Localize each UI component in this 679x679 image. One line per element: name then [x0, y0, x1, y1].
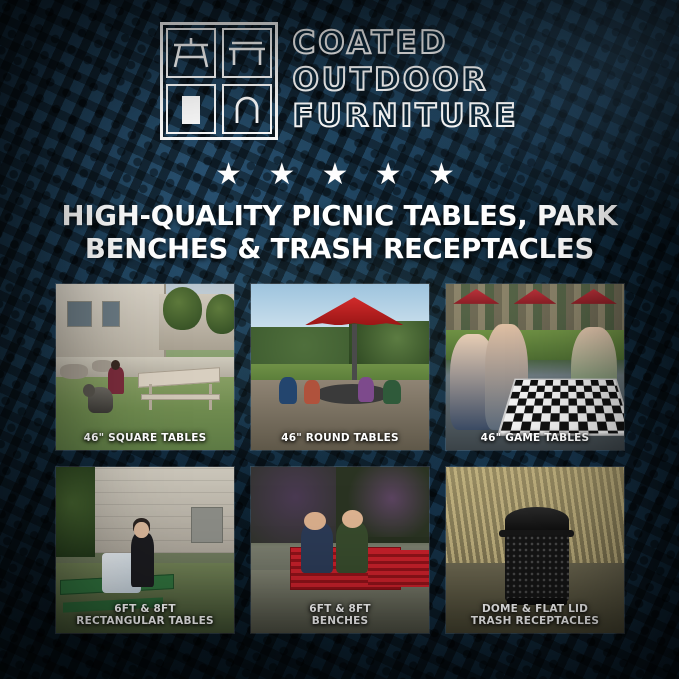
- picnic-table-icon: [166, 28, 216, 78]
- tile-caption: 6FT & 8FT RECTANGULAR TABLES: [56, 599, 234, 633]
- tile-caption-line-1: 46" ROUND TABLES: [281, 432, 399, 444]
- logo-icon-grid: [160, 22, 278, 140]
- brand-line-2: OUTDOOR: [292, 63, 518, 98]
- tile-caption: 46" GAME TABLES: [446, 428, 624, 450]
- star-rating: ★ ★ ★ ★ ★: [0, 160, 679, 190]
- tile-caption-line-1: 46" SQUARE TABLES: [84, 432, 207, 444]
- product-tile-square-tables[interactable]: 46" SQUARE TABLES: [55, 283, 235, 451]
- bench-icon: [222, 28, 272, 78]
- page-title: HIGH-QUALITY PICNIC TABLES, PARK BENCHES…: [0, 200, 679, 266]
- product-tile-grid: 46" SQUARE TABLES: [55, 283, 625, 634]
- tile-caption: 6FT & 8FT BENCHES: [251, 599, 429, 633]
- product-tile-rectangular-tables[interactable]: 6FT & 8FT RECTANGULAR TABLES: [55, 466, 235, 634]
- square-table-photo: [56, 284, 234, 450]
- tile-caption: 46" ROUND TABLES: [251, 428, 429, 450]
- tile-caption-line-1: DOME & FLAT LID: [482, 603, 588, 615]
- tile-caption: 46" SQUARE TABLES: [56, 428, 234, 450]
- banner-content: COATED OUTDOOR FURNITURE ★ ★ ★ ★ ★ HIGH-…: [0, 0, 679, 679]
- product-tile-benches[interactable]: 6FT & 8FT BENCHES: [250, 466, 430, 634]
- product-banner: COATED OUTDOOR FURNITURE ★ ★ ★ ★ ★ HIGH-…: [0, 0, 679, 679]
- tile-caption-line-1: 6FT & 8FT: [309, 603, 371, 615]
- trash-receptacle-icon: [166, 84, 216, 134]
- brand-line-3: FURNITURE: [292, 99, 518, 134]
- brand-line-1: COATED: [292, 26, 518, 61]
- headline-line-2: BENCHES & TRASH RECEPTACLES: [28, 233, 651, 266]
- brand-wordmark: COATED OUTDOOR FURNITURE: [292, 22, 518, 134]
- brand-logo: COATED OUTDOOR FURNITURE: [0, 22, 679, 140]
- round-table-photo: [251, 284, 429, 450]
- product-tile-game-tables[interactable]: 46" GAME TABLES: [445, 283, 625, 451]
- bollard-icon: [222, 84, 272, 134]
- tile-caption-line-1: 46" GAME TABLES: [481, 432, 590, 444]
- product-tile-trash-receptacles[interactable]: DOME & FLAT LID TRASH RECEPTACLES: [445, 466, 625, 634]
- game-table-photo: [446, 284, 624, 450]
- tile-caption-line-2: TRASH RECEPTACLES: [448, 615, 622, 627]
- tile-caption: DOME & FLAT LID TRASH RECEPTACLES: [446, 599, 624, 633]
- product-tile-round-tables[interactable]: 46" ROUND TABLES: [250, 283, 430, 451]
- tile-caption-line-1: 6FT & 8FT: [114, 603, 176, 615]
- tile-caption-line-2: BENCHES: [253, 615, 427, 627]
- tile-caption-line-2: RECTANGULAR TABLES: [58, 615, 232, 627]
- headline-line-1: HIGH-QUALITY PICNIC TABLES, PARK: [62, 200, 618, 232]
